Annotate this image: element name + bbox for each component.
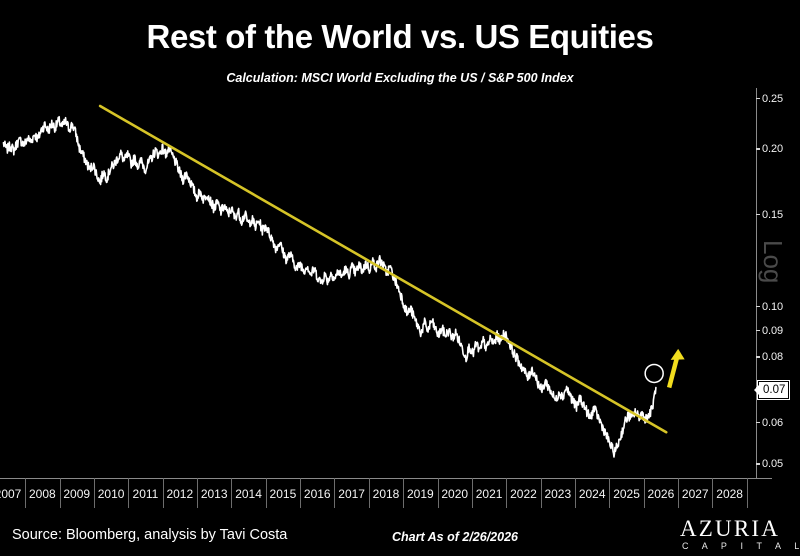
y-tick-mark <box>756 306 760 308</box>
y-tick-label: 0.09 <box>762 325 783 337</box>
y-tick-mark <box>756 98 760 100</box>
y-tick-label: 0.25 <box>762 93 783 105</box>
footer-source-text: Source: Bloomberg, analysis by Tavi Cost… <box>12 527 287 543</box>
y-tick-mark <box>756 214 760 216</box>
y-tick-label: 0.10 <box>762 301 783 313</box>
x-tick-label: 2018 <box>369 487 403 501</box>
x-tick-label: 2024 <box>575 487 609 501</box>
x-axis: 2007200820092010201120122013201420152016… <box>0 478 772 514</box>
plot-area <box>0 88 756 478</box>
y-tick-mark <box>756 148 760 150</box>
x-axis-line <box>0 478 772 479</box>
logo-wordmark: AZURIA <box>680 517 780 541</box>
x-tick-label: 2021 <box>472 487 506 501</box>
y-tick-mark <box>756 463 760 465</box>
footer-asof-date: Chart As of 2/26/2026 <box>392 530 518 544</box>
x-tick-label: 2009 <box>60 487 94 501</box>
log-scale-watermark: Log <box>760 240 786 283</box>
y-tick-mark <box>756 330 760 332</box>
x-tick-label: 2011 <box>128 487 162 501</box>
x-tick-label: 2022 <box>506 487 540 501</box>
y-tick-label: 0.05 <box>762 458 783 470</box>
price-series-line <box>3 117 655 457</box>
breakout-circle-annotation <box>645 364 663 382</box>
x-tick-label: 2025 <box>609 487 643 501</box>
chart-root: Rest of the World vs. US Equities Calcul… <box>0 0 800 556</box>
price-chart-svg <box>0 88 756 478</box>
y-tick-label: 0.15 <box>762 209 783 221</box>
x-tick-label: 2020 <box>438 487 472 501</box>
y-tick-mark <box>756 356 760 358</box>
x-tick-label: 2023 <box>541 487 575 501</box>
current-price-marker: 0.07 <box>758 381 789 399</box>
x-tick-label: 2008 <box>25 487 59 501</box>
logo-tagline: C A P I T A L <box>682 541 800 551</box>
x-tick-label: 2013 <box>197 487 231 501</box>
descending-resistance-trendline <box>100 106 666 432</box>
x-tick-label: 2028 <box>712 487 746 501</box>
azuria-capital-logo: AZURIA C A P I T A L <box>624 516 794 554</box>
x-tick-label: 2019 <box>403 487 437 501</box>
bullish-up-arrow-icon <box>669 349 685 388</box>
x-tick-label: 2014 <box>231 487 265 501</box>
y-tick-label: 0.08 <box>762 351 783 363</box>
y-tick-label: 0.06 <box>762 417 783 429</box>
x-tick-label: 2016 <box>300 487 334 501</box>
x-tick-label: 2026 <box>644 487 678 501</box>
y-tick-mark <box>756 422 760 424</box>
chart-header: Rest of the World vs. US Equities Calcul… <box>0 0 800 88</box>
chart-subtitle: Calculation: MSCI World Excluding the US… <box>0 70 800 86</box>
x-tick-label: 2017 <box>334 487 368 501</box>
y-axis-line <box>756 88 757 478</box>
x-tick-label: 2012 <box>163 487 197 501</box>
azuria-fan-icon <box>624 518 672 552</box>
x-tick-label: 2010 <box>94 487 128 501</box>
x-tick-separator <box>747 478 748 508</box>
chart-title: Rest of the World vs. US Equities <box>0 17 800 57</box>
y-tick-label: 0.20 <box>762 143 783 155</box>
x-tick-label: 2027 <box>678 487 712 501</box>
x-tick-label: 2015 <box>266 487 300 501</box>
x-tick-label: 2007 <box>0 487 25 501</box>
y-axis: Log 0.250.200.150.100.090.080.070.060.05… <box>756 88 800 478</box>
